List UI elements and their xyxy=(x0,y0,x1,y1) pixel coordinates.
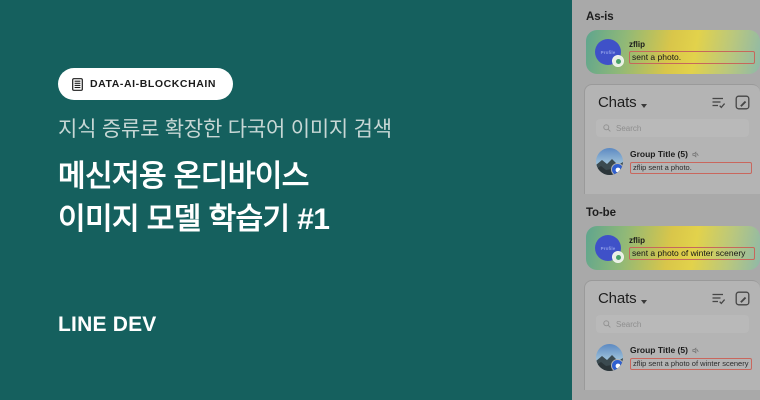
avatar-label: Profile xyxy=(601,50,616,55)
search-icon xyxy=(603,124,611,132)
notification-body: zflip sent a photo. xyxy=(629,40,760,64)
mute-icon xyxy=(692,151,699,158)
new-chat-icon[interactable] xyxy=(726,95,750,110)
notification-message: sent a photo of winter scenery xyxy=(629,247,755,260)
sort-check-icon[interactable] xyxy=(702,291,726,306)
avatar xyxy=(596,344,623,371)
notification-message: sent a photo. xyxy=(629,51,755,64)
chat-row-preview: zflip sent a photo. xyxy=(630,162,752,175)
chat-row-title: Group Title (5) xyxy=(630,345,752,356)
pin-icon xyxy=(611,359,623,371)
category-badge-label: DATA-AI-BLOCKCHAIN xyxy=(90,78,216,90)
section-as-is: As-is Profile zflip sent a photo. Chats xyxy=(572,0,760,194)
status-dot-icon xyxy=(612,251,624,263)
chevron-down-icon[interactable] xyxy=(641,300,647,304)
notification-sender: zflip xyxy=(629,236,755,246)
pin-icon xyxy=(611,163,623,175)
chats-title: Chats xyxy=(598,290,636,307)
avatar xyxy=(596,148,623,175)
chat-title-text: Group Title (5) xyxy=(630,345,688,356)
search-input[interactable]: Search xyxy=(596,315,749,333)
chat-list-item[interactable]: Group Title (5) zflip sent a photo. xyxy=(596,148,760,175)
chats-header: Chats xyxy=(585,290,760,307)
notification-toast-as-is[interactable]: Profile zflip sent a photo. xyxy=(586,30,760,74)
category-badge: DATA-AI-BLOCKCHAIN xyxy=(58,68,233,100)
notification-body: zflip sent a photo of winter scenery xyxy=(629,236,760,260)
chats-header: Chats xyxy=(585,94,760,111)
chevron-down-icon[interactable] xyxy=(641,104,647,108)
chat-row-title: Group Title (5) xyxy=(630,149,752,160)
avatar: Profile xyxy=(595,39,621,65)
brand-logo: LINE DEV xyxy=(58,313,157,337)
mute-icon xyxy=(692,347,699,354)
chats-card-as-is: Chats xyxy=(584,84,760,194)
database-icon xyxy=(72,78,83,91)
notification-toast-to-be[interactable]: Profile zflip sent a photo of winter sce… xyxy=(586,226,760,270)
search-placeholder: Search xyxy=(616,124,641,133)
status-dot-icon xyxy=(612,55,624,67)
section-heading-to-be: To-be xyxy=(586,207,760,219)
avatar: Profile xyxy=(595,235,621,261)
cover-canvas: DATA-AI-BLOCKCHAIN 지식 증류로 확장한 다국어 이미지 검색… xyxy=(0,0,760,400)
chat-row-body: Group Title (5) zflip sent a photo. xyxy=(630,149,752,175)
section-to-be: To-be Profile zflip sent a photo of wint… xyxy=(572,196,760,390)
screenshot-panel: As-is Profile zflip sent a photo. Chats xyxy=(572,0,760,400)
search-input[interactable]: Search xyxy=(596,119,749,137)
new-chat-icon[interactable] xyxy=(726,291,750,306)
chat-row-body: Group Title (5) zflip sent a photo of wi… xyxy=(630,345,752,371)
section-heading-as-is: As-is xyxy=(586,11,760,23)
cover-subtitle: 지식 증류로 확장한 다국어 이미지 검색 xyxy=(58,116,392,143)
page-title: 메신저용 온디바이스 이미지 모델 학습기 #1 xyxy=(58,156,329,241)
notification-sender: zflip xyxy=(629,40,755,50)
search-placeholder: Search xyxy=(616,320,641,329)
chat-title-text: Group Title (5) xyxy=(630,149,688,160)
chats-title: Chats xyxy=(598,94,636,111)
sort-check-icon[interactable] xyxy=(702,95,726,110)
chats-card-to-be: Chats xyxy=(584,280,760,390)
chat-list-item[interactable]: Group Title (5) zflip sent a photo of wi… xyxy=(596,344,760,371)
cover-left-content: DATA-AI-BLOCKCHAIN 지식 증류로 확장한 다국어 이미지 검색… xyxy=(0,0,572,400)
chat-row-preview: zflip sent a photo of winter scenery xyxy=(630,358,752,371)
search-icon xyxy=(603,320,611,328)
avatar-label: Profile xyxy=(601,246,616,251)
